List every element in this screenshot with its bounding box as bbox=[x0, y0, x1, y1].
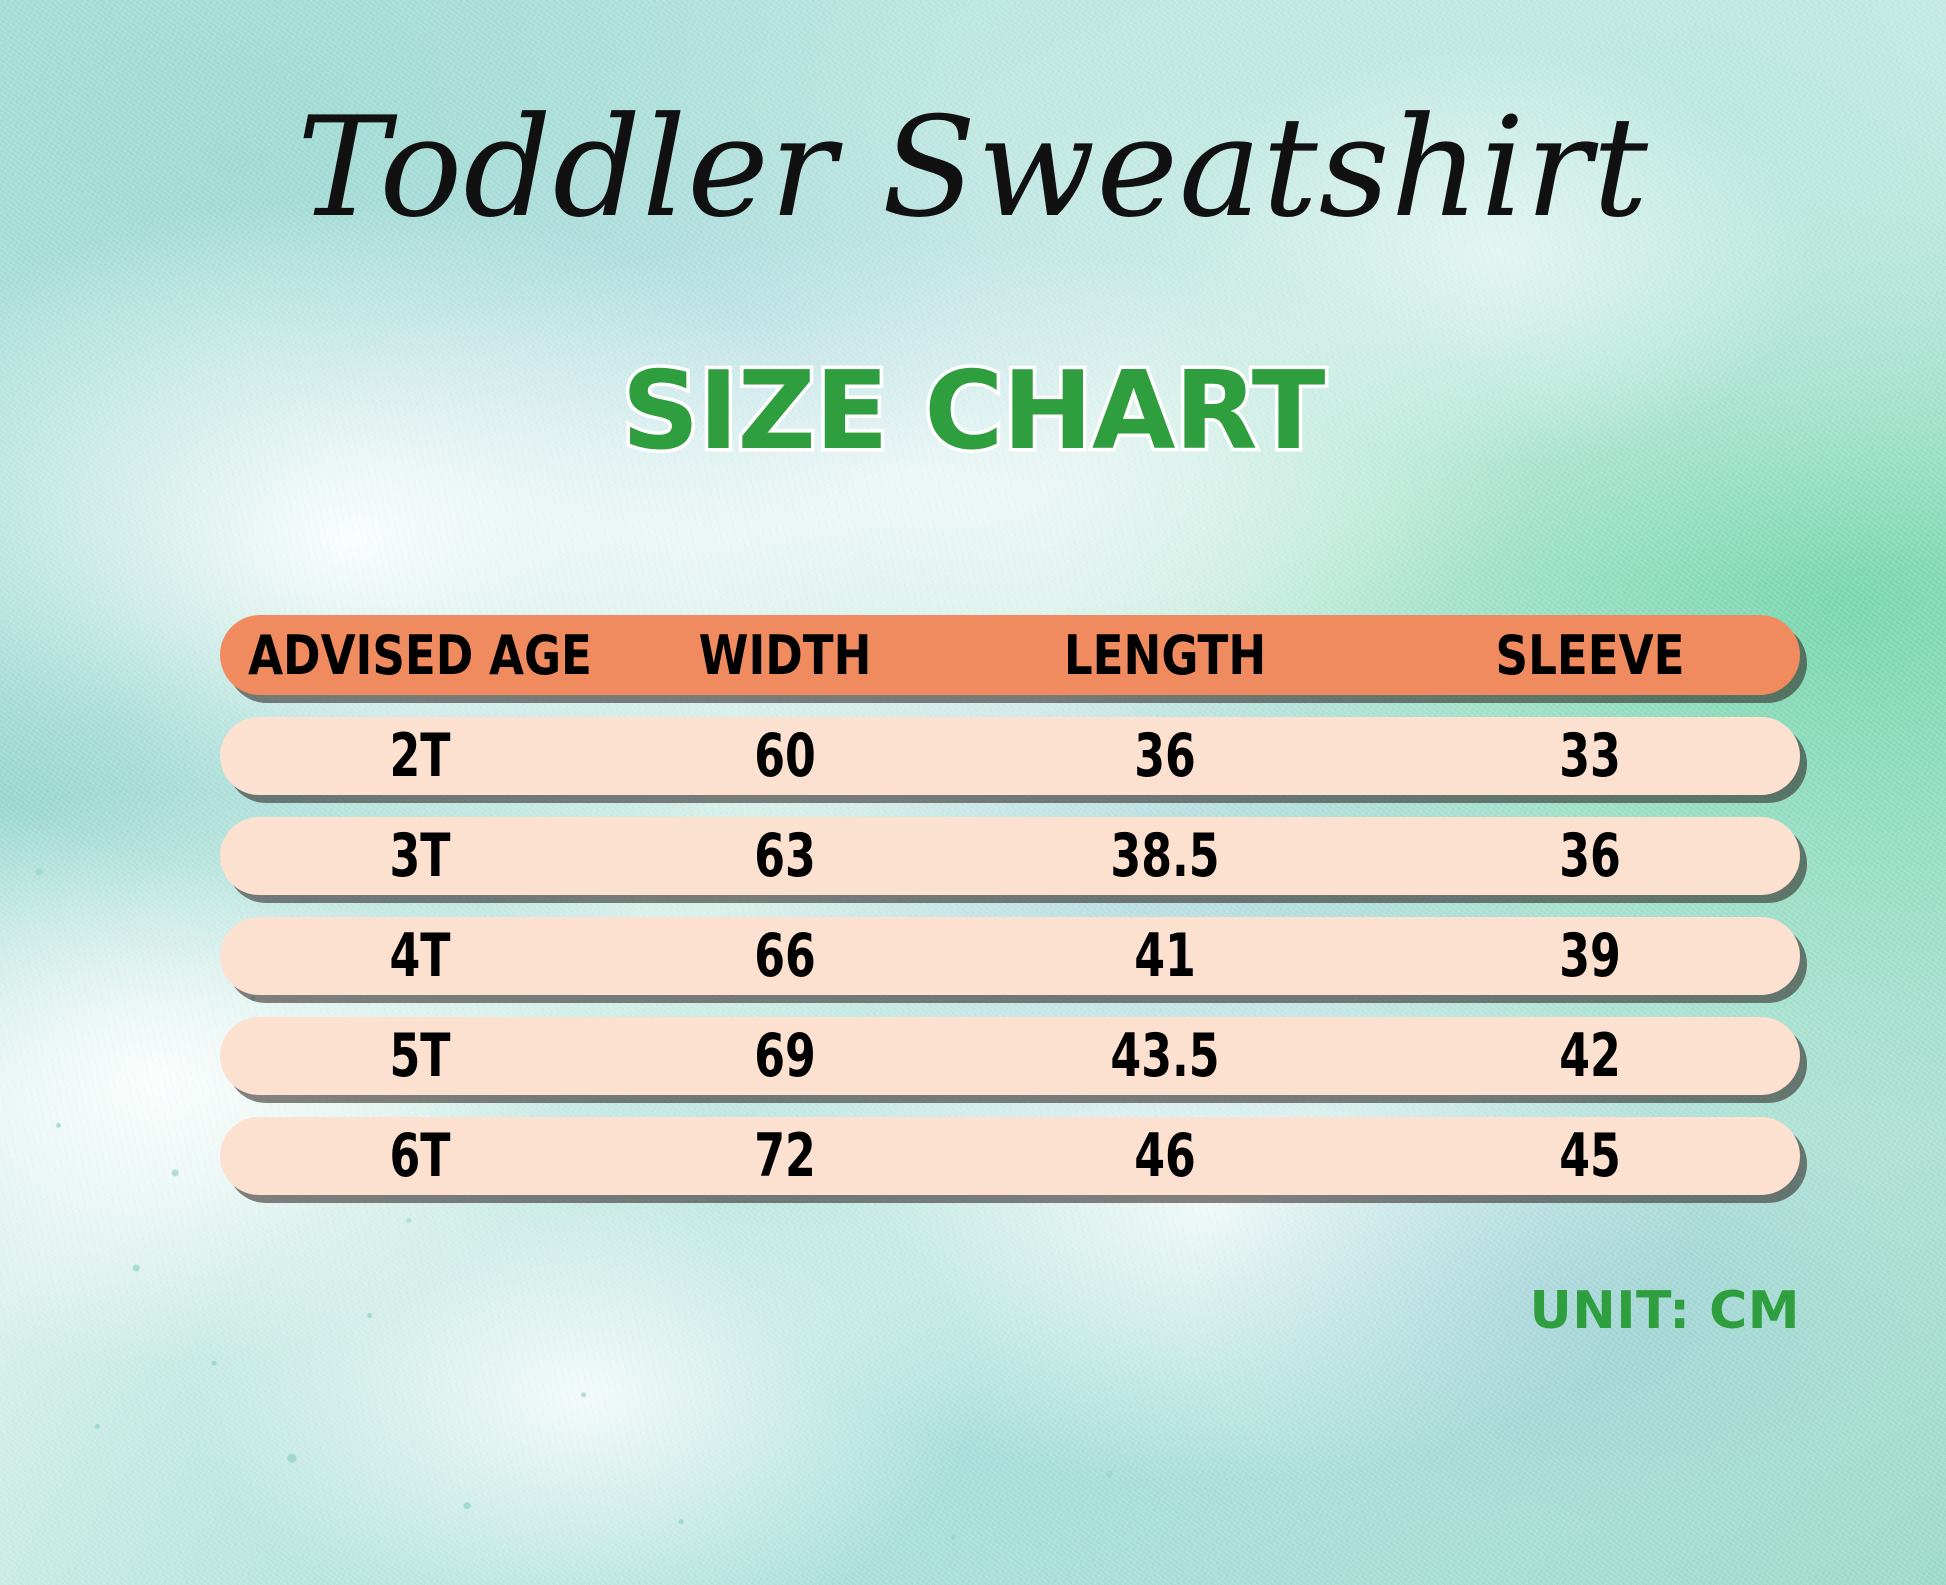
cell-advised-age: 2T bbox=[256, 721, 584, 791]
page-subtitle: SIZE CHART bbox=[0, 358, 1946, 466]
unit-note: UNIT: CM bbox=[1529, 1281, 1800, 1341]
cell-sleeve: 42 bbox=[1418, 1021, 1762, 1091]
cell-length: 38.5 bbox=[989, 821, 1342, 891]
cell-sleeve: 36 bbox=[1418, 821, 1762, 891]
cell-advised-age: 6T bbox=[256, 1121, 584, 1191]
cell-advised-age: 4T bbox=[256, 921, 584, 991]
table-row: 2T 60 36 33 bbox=[220, 717, 1800, 795]
column-header-length: LENGTH bbox=[965, 624, 1365, 687]
cell-width: 72 bbox=[650, 1121, 921, 1191]
cell-width: 60 bbox=[650, 721, 921, 791]
cell-width: 63 bbox=[650, 821, 921, 891]
table-row: 6T 72 46 45 bbox=[220, 1117, 1800, 1195]
page-title: Toddler Sweatshirt bbox=[0, 96, 1946, 241]
cell-length: 46 bbox=[989, 1121, 1342, 1191]
column-header-sleeve: SLEEVE bbox=[1395, 624, 1786, 687]
table-row: 5T 69 43.5 42 bbox=[220, 1017, 1800, 1095]
table-row: 4T 66 41 39 bbox=[220, 917, 1800, 995]
cell-length: 43.5 bbox=[989, 1021, 1342, 1091]
cell-width: 66 bbox=[650, 921, 921, 991]
cell-advised-age: 5T bbox=[256, 1021, 584, 1091]
cell-length: 41 bbox=[989, 921, 1342, 991]
cell-advised-age: 3T bbox=[256, 821, 584, 891]
cell-sleeve: 39 bbox=[1418, 921, 1762, 991]
table-header-row: ADVISED AGE WIDTH LENGTH SLEEVE bbox=[220, 615, 1800, 695]
cell-sleeve: 45 bbox=[1418, 1121, 1762, 1191]
size-chart-page: Toddler Sweatshirt SIZE CHART ADVISED AG… bbox=[0, 0, 1946, 1585]
table-row: 3T 63 38.5 36 bbox=[220, 817, 1800, 895]
cell-sleeve: 33 bbox=[1418, 721, 1762, 791]
column-header-advised-age: ADVISED AGE bbox=[234, 624, 606, 687]
size-chart-table: ADVISED AGE WIDTH LENGTH SLEEVE 2T 60 36… bbox=[220, 615, 1800, 1195]
cell-length: 36 bbox=[989, 721, 1342, 791]
column-header-width: WIDTH bbox=[632, 624, 939, 687]
cell-width: 69 bbox=[650, 1021, 921, 1091]
